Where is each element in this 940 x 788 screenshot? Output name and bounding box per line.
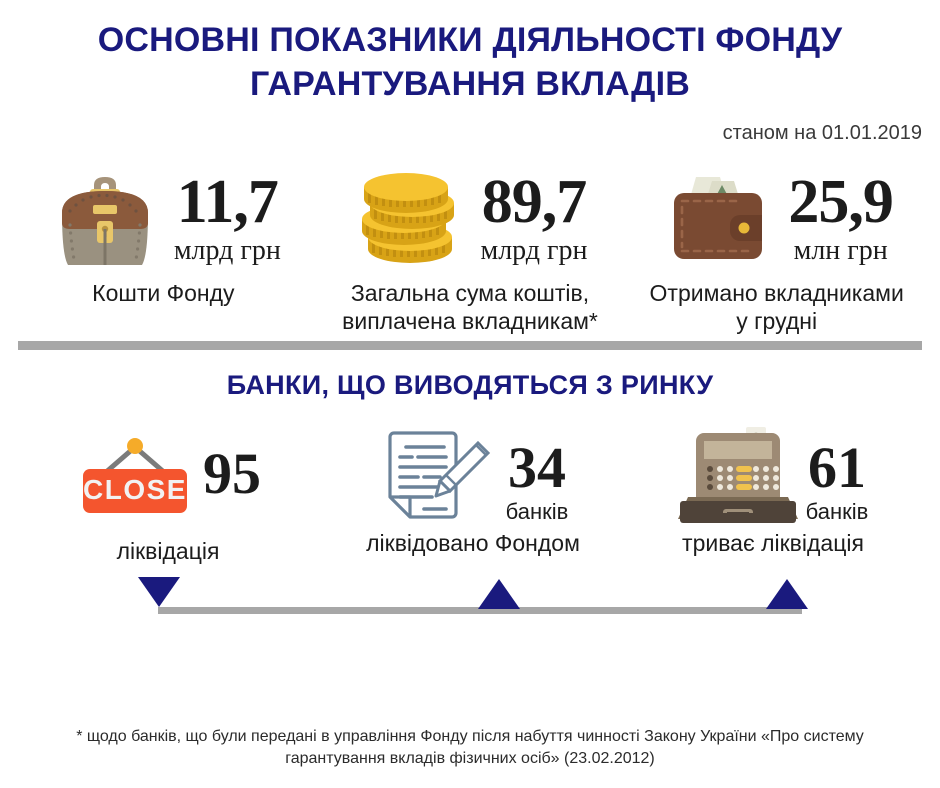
stat-total-paid-figures: 89,7 млрд грн: [480, 167, 587, 267]
stat-unit: млн грн: [794, 235, 888, 267]
bank-liquidated-by-fund-top: 34 банків: [378, 425, 569, 525]
timeline-marker-up-1: [478, 579, 520, 609]
key-indicators-row: 11,7 млрд грн Кошти Фонду: [0, 167, 940, 335]
bank-caption: ліквідація: [117, 537, 220, 565]
bank-liquidation-ongoing-top: 61 банків: [678, 425, 869, 525]
stat-caption: Отримано вкладниками у грудні: [650, 279, 904, 335]
stat-caption: Кошти Фонду: [92, 279, 234, 307]
bank-caption: ліквідовано Фондом: [366, 529, 580, 557]
bank-value: 61: [808, 439, 866, 497]
timeline: [18, 571, 922, 617]
timeline-marker-down: [138, 577, 180, 607]
close-sign-label: CLOSE: [83, 474, 187, 505]
bank-liquidation-ongoing: 61 банків триває ліквідація: [628, 425, 918, 557]
infographic-page: ОСНОВНІ ПОКАЗНИКИ ДІЯЛЬНОСТІ ФОНДУ ГАРАН…: [0, 0, 940, 788]
bank-value: 34: [508, 439, 566, 497]
stat-unit: млрд грн: [174, 235, 281, 267]
stat-value: 89,7: [482, 171, 587, 233]
stat-value: 11,7: [177, 171, 278, 233]
banks-row: CLOSE 95 ліквідація: [0, 425, 940, 565]
wallet-icon: [660, 167, 778, 271]
bank-liquidation-total-figures: 95: [203, 425, 261, 505]
stat-received-december-figures: 25,9 млн грн: [788, 167, 893, 267]
timeline-marker-up-2: [766, 579, 808, 609]
cash-register-icon: [678, 425, 798, 525]
page-title-line-1: ОСНОВНІ ПОКАЗНИКИ ДІЯЛЬНОСТІ ФОНДУ: [0, 18, 940, 62]
bank-value: 95: [203, 445, 261, 503]
section-divider: [18, 341, 922, 350]
briefcase-icon: [46, 167, 164, 271]
stat-fund-assets: 11,7 млрд грн Кошти Фонду: [10, 167, 317, 307]
as-of-date: станом на 01.01.2019: [0, 122, 940, 145]
bank-liquidated-by-fund-figures: 34 банків: [506, 425, 569, 525]
section-heading: БАНКИ, ЩО ВИВОДЯТЬСЯ З РИНКУ: [0, 370, 940, 401]
bank-unit: банків: [806, 499, 869, 525]
page-title-line-2: ГАРАНТУВАННЯ ВКЛАДІВ: [0, 62, 940, 106]
page-title: ОСНОВНІ ПОКАЗНИКИ ДІЯЛЬНОСТІ ФОНДУ ГАРАН…: [0, 0, 940, 145]
bank-liquidation-total-top: CLOSE 95: [75, 425, 261, 525]
stat-received-december: 25,9 млн грн Отримано вкладниками у груд…: [623, 167, 930, 335]
stat-unit: млрд грн: [480, 235, 587, 267]
stat-total-paid-top: 89,7 млрд грн: [352, 167, 587, 271]
bank-liquidation-ongoing-figures: 61 банків: [806, 425, 869, 525]
stat-fund-assets-top: 11,7 млрд грн: [46, 167, 281, 271]
bank-liquidated-by-fund: 34 банків ліквідовано Фондом: [318, 425, 628, 557]
stat-value: 25,9: [788, 171, 893, 233]
bank-liquidation-total: CLOSE 95 ліквідація: [18, 425, 318, 565]
stat-total-paid: 89,7 млрд грн Загальна сума коштів, випл…: [317, 167, 624, 335]
bank-unit: банків: [506, 499, 569, 525]
stat-caption: Загальна сума коштів, виплачена вкладник…: [342, 279, 598, 335]
close-sign-icon: CLOSE: [75, 425, 195, 525]
bank-caption: триває ліквідація: [682, 529, 864, 557]
document-pencil-icon: [378, 425, 498, 525]
stat-received-december-top: 25,9 млн грн: [660, 167, 893, 271]
footnote: * щодо банків, що були передані в управл…: [0, 726, 940, 770]
coins-stack-icon: [352, 167, 470, 271]
stat-fund-assets-figures: 11,7 млрд грн: [174, 167, 281, 267]
